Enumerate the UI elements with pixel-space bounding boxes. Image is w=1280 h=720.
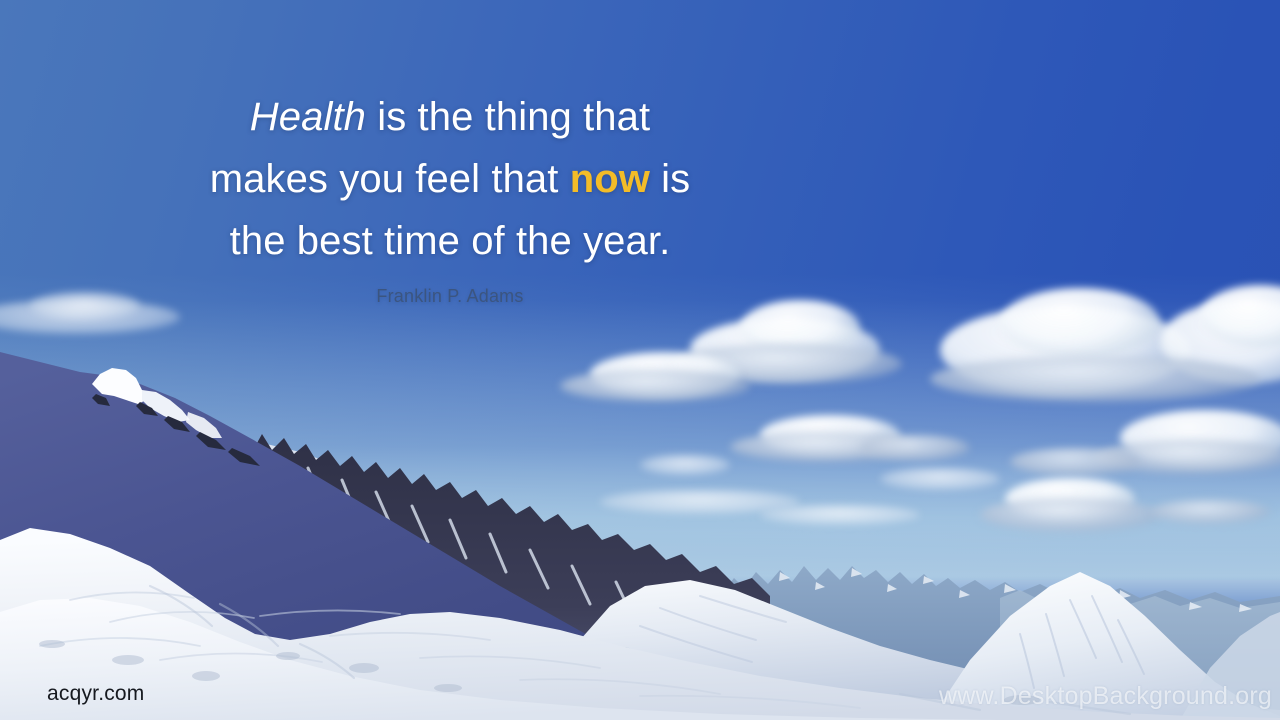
watermark-bottom-right: www.DesktopBackground.org xyxy=(939,682,1272,711)
quote-emphasis-word: Health xyxy=(250,95,366,139)
quote-author: Franklin P. Adams xyxy=(0,286,900,307)
quote-line-3: the best time of the year. xyxy=(0,210,900,272)
wallpaper-canvas: Health is the thing that makes you feel … xyxy=(0,0,1280,720)
quote-line-2: makes you feel that now is xyxy=(0,148,900,210)
quote-line-2-after: is xyxy=(650,157,690,201)
quote-highlight-word: now xyxy=(570,157,650,201)
quote-block: Health is the thing that makes you feel … xyxy=(0,86,900,307)
quote-line-2-before: makes you feel that xyxy=(210,157,570,201)
quote-line-1: Health is the thing that xyxy=(0,86,900,148)
watermark-bottom-left: acqyr.com xyxy=(47,682,145,706)
quote-line-1-rest: is the thing that xyxy=(366,95,650,139)
